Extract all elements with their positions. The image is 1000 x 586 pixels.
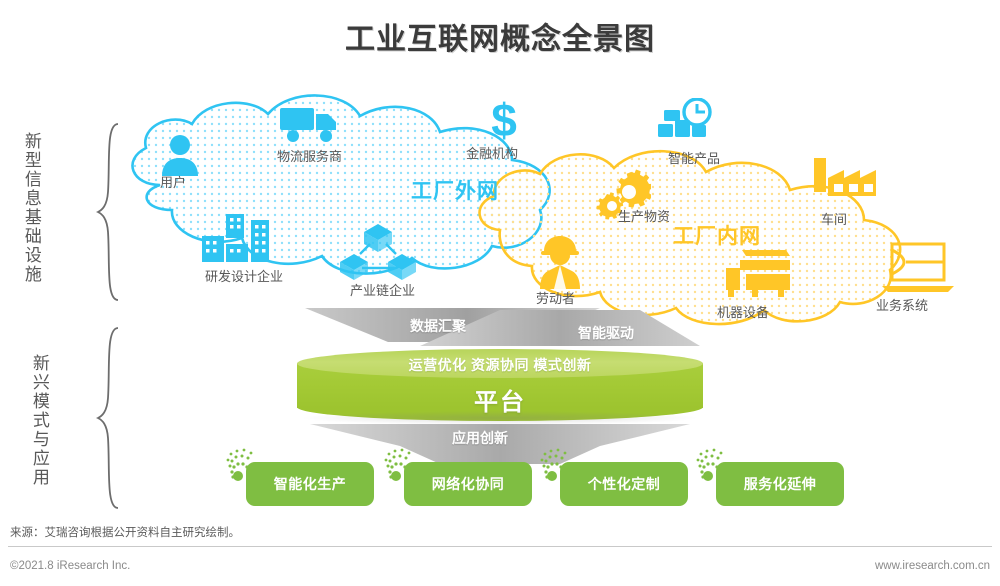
wifi-signal-icon [224,448,264,491]
truck-icon [278,102,340,146]
footer-divider [8,546,992,547]
app-label: 智能化生产 [274,474,347,494]
flow-label-data-aggregation: 数据汇聚 [410,316,466,336]
label-factory-outer-network: 工厂外网 [411,175,499,205]
app-box-personalized-customization[interactable]: 个性化定制 [560,462,688,506]
app-box-intelligent-production[interactable]: 智能化生产 [246,462,374,506]
network-clouds: 用户 物流服务商 $ 金融机构 [0,80,1000,330]
label-supply-chain-enterprise: 产业链企业 [350,280,415,299]
app-label: 服务化延伸 [744,474,817,494]
factory-icon [810,154,882,210]
buildings-icon [196,210,272,274]
label-logistics-provider: 物流服务商 [277,146,342,165]
app-box-networked-collaboration[interactable]: 网络化协同 [404,462,532,506]
dollar-icon: $ [487,96,521,144]
wifi-signal-icon [538,448,578,491]
flow-label-intelligent-drive: 智能驱动 [578,323,634,343]
label-financial-institution: 金融机构 [466,143,518,162]
svg-text:$: $ [491,96,517,144]
app-label: 个性化定制 [588,474,661,494]
smart-product-icon [656,98,718,146]
supply-chain-icon [338,222,418,284]
label-workshop: 车间 [821,209,847,228]
app-box-service-extension[interactable]: 服务化延伸 [716,462,844,506]
page-title: 工业互联网概念全景图 [0,14,1000,58]
platform-cylinder: 运营优化 资源协同 模式创新 平台 [297,349,703,422]
label-user: 用户 [160,172,186,191]
label-factory-inner-network: 工厂内网 [673,220,761,250]
wifi-signal-icon [382,448,422,491]
application-boxes: 智能化生产 网络化协同 [0,462,1000,518]
worker-icon [532,235,588,291]
application-flow-arrow: 应用创新 [0,418,1000,466]
wifi-signal-icon [694,448,734,491]
laptop-icon [880,240,956,296]
source-note: 来源：艾瑞咨询根据公开资料自主研究绘制。 [10,524,240,540]
label-production-materials: 生产物资 [618,206,670,225]
label-rd-design-enterprise: 研发设计企业 [205,266,283,285]
website-url: www.iresearch.com.cn [875,560,990,572]
flow-label-application-innovation: 应用创新 [452,428,508,448]
infographic-page: 工业互联网概念全景图 新型信息基础设施 新兴模式与应用 [0,0,1000,586]
machine-icon [720,248,792,300]
platform-capabilities: 运营优化 资源协同 模式创新 [297,355,703,375]
app-label: 网络化协同 [432,474,505,494]
copyright-text: ©2021.8 iResearch Inc. [10,560,130,572]
label-smart-product: 智能产品 [668,148,720,167]
